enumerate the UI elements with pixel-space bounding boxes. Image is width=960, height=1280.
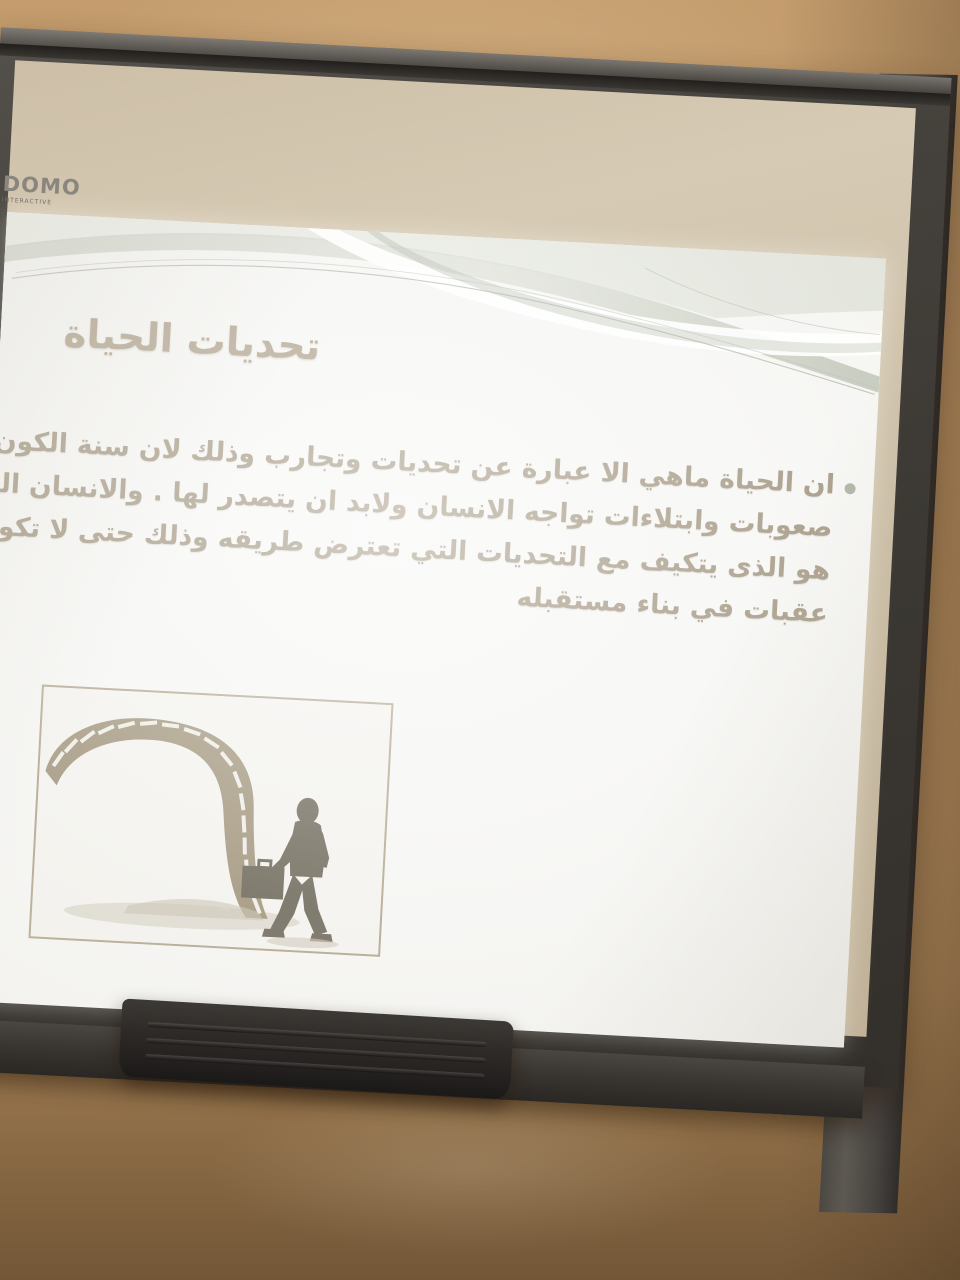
device-brand-plate: DOMO INTERACTIVE (1, 174, 89, 225)
projected-slide[interactable]: تحديات الحياة ان الحياة ماهي الا عبارة ع… (0, 212, 886, 1048)
slide-body-bullet-block: ان الحياة ماهي الا عبارة عن تحديات وتجار… (21, 421, 857, 637)
slide-picture-frame (28, 685, 393, 957)
interactive-whiteboard[interactable]: تحديات الحياة ان الحياة ماهي الا عبارة ع… (0, 15, 960, 1166)
slide-body-text: ان الحياة ماهي الا عبارة عن تحديات وتجار… (0, 417, 836, 636)
brand-name-label: DOMO (2, 174, 89, 200)
bullet-point-marker (844, 483, 856, 495)
classroom-photo-scene: تحديات الحياة ان الحياة ماهي الا عبارة ع… (0, 0, 960, 1280)
businessman-walking-to-spiral-staircase-icon (31, 687, 392, 955)
